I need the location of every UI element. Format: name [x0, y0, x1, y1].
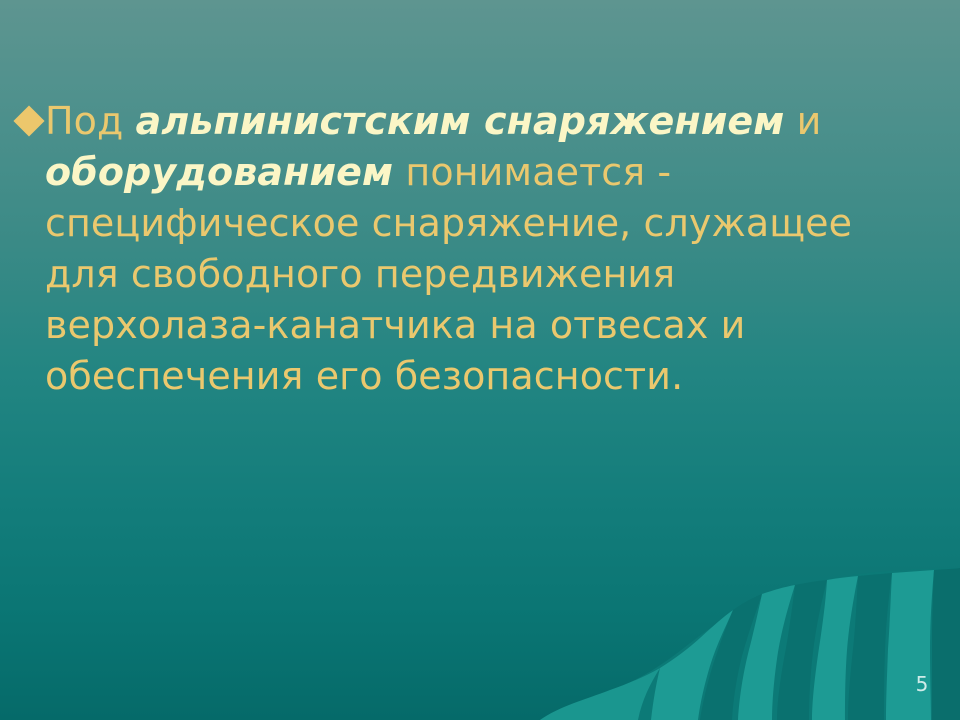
- wave-band-1: [540, 668, 660, 720]
- page-number: 5: [908, 672, 936, 696]
- wave-band-8: [886, 570, 934, 720]
- wave-band-2: [651, 610, 733, 720]
- body-run-text: Под: [45, 99, 136, 143]
- wave-band-5: [777, 580, 827, 720]
- body-run-emphasis: альпинистским снаряжением: [136, 99, 785, 143]
- wave-band-3: [700, 594, 762, 720]
- body-line-6: обеспечения его безопасности.: [18, 351, 940, 402]
- slide-body-text: Под альпинистским снаряжением и оборудов…: [18, 96, 940, 402]
- wave-band-7: [848, 573, 892, 720]
- body-run-emphasis: оборудованием: [45, 150, 393, 194]
- wave-band-6: [812, 576, 858, 720]
- body-line-5: верхолаза-канатчика на отвесах и: [18, 300, 940, 351]
- body-line-2: оборудованием понимается -: [18, 147, 940, 198]
- body-run-text: и: [784, 99, 821, 143]
- wave-band-4: [738, 585, 795, 720]
- wave-band-base: [540, 568, 960, 720]
- body-run-text: понимается -: [393, 150, 671, 194]
- diamond-bullet-icon: [13, 105, 44, 136]
- wave-band-9: [932, 568, 960, 720]
- body-run-text: верхолаза-канатчика на отвесах и: [45, 303, 745, 347]
- presentation-slide: Под альпинистским снаряжением и оборудов…: [0, 0, 960, 720]
- body-run-text: специфическое снаряжение, служащее: [45, 201, 852, 245]
- body-line-1: Под альпинистским снаряжением и: [18, 96, 940, 147]
- body-line-4: для свободного передвижения: [18, 249, 940, 300]
- body-run-text: для свободного передвижения: [45, 252, 675, 296]
- body-run-text: обеспечения его безопасности.: [45, 354, 683, 398]
- body-line-3: специфическое снаряжение, служащее: [18, 198, 940, 249]
